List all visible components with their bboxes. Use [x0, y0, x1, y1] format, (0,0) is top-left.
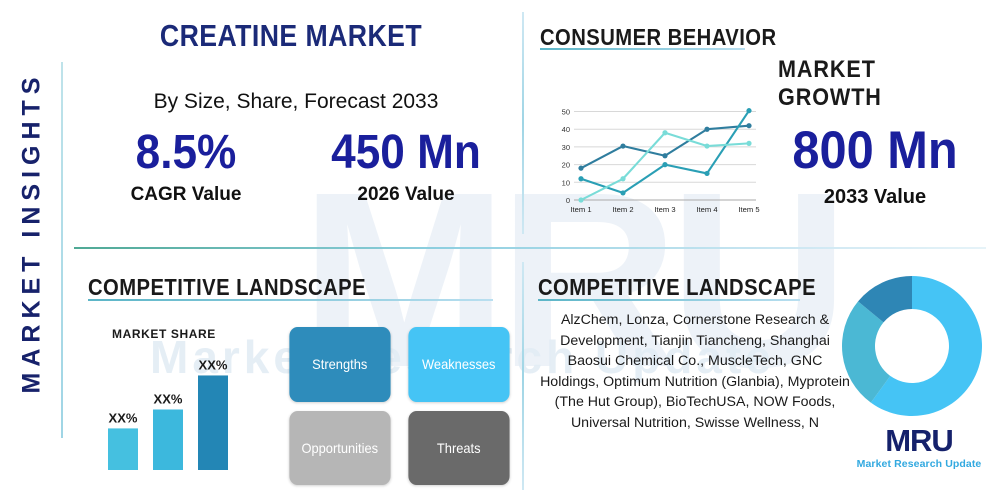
kpi-cagr-label: CAGR Value [76, 184, 296, 206]
sidebar-title: MARKET INSIGHTS [18, 13, 47, 453]
vertical-divider-bottom [522, 262, 524, 490]
market-growth-title: MARKET GROWTH [778, 56, 978, 112]
svg-text:20: 20 [562, 161, 570, 170]
sidebar: MARKET INSIGHTS [0, 0, 62, 500]
page-title: CREATINE MARKET [106, 18, 476, 54]
competitive-landscape-left-rule [88, 299, 493, 301]
swot-strengths-label: Strengths [312, 356, 367, 372]
svg-text:0: 0 [566, 196, 570, 205]
svg-text:XX%: XX% [109, 410, 138, 425]
kpi-2026: 450 Mn 2026 Value [296, 126, 516, 206]
svg-text:40: 40 [562, 125, 570, 134]
svg-text:Item 1: Item 1 [570, 205, 591, 214]
swot-grid: Strengths Weaknesses Opportunities Threa… [285, 327, 513, 485]
kpi-2026-label: 2026 Value [296, 184, 516, 206]
swot-threats-label: Threats [436, 440, 480, 456]
market-share-donut-chart [838, 272, 986, 420]
consumer-behavior-title: CONSUMER BEHAVIOR [540, 24, 777, 51]
logo: MRU Market Research Update [852, 425, 986, 470]
svg-text:Item 3: Item 3 [654, 205, 675, 214]
competitive-landscape-right-title: COMPETITIVE LANDSCAPE [538, 274, 816, 301]
line-chart-x-ticks: Item 1Item 2Item 3Item 4Item 5 [570, 205, 759, 214]
svg-text:30: 30 [562, 143, 570, 152]
kpi-cagr: 8.5% CAGR Value [76, 126, 296, 206]
swot-opportunities-label: Opportunities [301, 440, 378, 456]
competitive-landscape-right-rule [538, 299, 800, 301]
market-growth-value: 800 Mn [765, 120, 986, 181]
swot-strengths[interactable]: Strengths [289, 327, 390, 402]
company-list: AlzChem, Lonza, Cornerstone Research & D… [540, 310, 850, 433]
kpi-2026-value: 450 Mn [305, 126, 507, 180]
swot-opportunities[interactable]: Opportunities [289, 411, 390, 486]
consumer-behavior-rule [540, 48, 745, 50]
svg-text:Item 2: Item 2 [612, 205, 633, 214]
page-subtitle: By Size, Share, Forecast 2033 [76, 90, 516, 114]
kpi-row: 8.5% CAGR Value 450 Mn 2026 Value [76, 126, 516, 206]
consumer-behavior-line-chart: 01020304050 Item 1Item 2Item 3Item 4Item… [548, 100, 760, 222]
market-growth-label: 2033 Value [755, 186, 995, 209]
market-share-bar-chart: XX%XX%XX% [100, 338, 280, 478]
logo-subtitle: Market Research Update [852, 458, 986, 470]
svg-text:Item 4: Item 4 [696, 205, 717, 214]
line-chart-y-ticks: 01020304050 [562, 108, 570, 205]
svg-text:Item 5: Item 5 [738, 205, 759, 214]
svg-text:XX%: XX% [199, 357, 228, 372]
svg-text:50: 50 [562, 108, 570, 117]
svg-text:10: 10 [562, 178, 570, 187]
swot-weaknesses-label: Weaknesses [421, 356, 495, 372]
horizontal-divider [74, 247, 986, 249]
competitive-landscape-left-title: COMPETITIVE LANDSCAPE [88, 274, 366, 301]
swot-weaknesses[interactable]: Weaknesses [408, 327, 509, 402]
line-chart-series [578, 108, 751, 203]
donut-slices [842, 276, 982, 416]
swot-threats[interactable]: Threats [408, 411, 509, 486]
svg-text:XX%: XX% [154, 391, 183, 406]
kpi-cagr-value: 8.5% [85, 126, 287, 180]
logo-mark: MRU [852, 425, 986, 457]
vertical-divider-top [522, 12, 524, 234]
